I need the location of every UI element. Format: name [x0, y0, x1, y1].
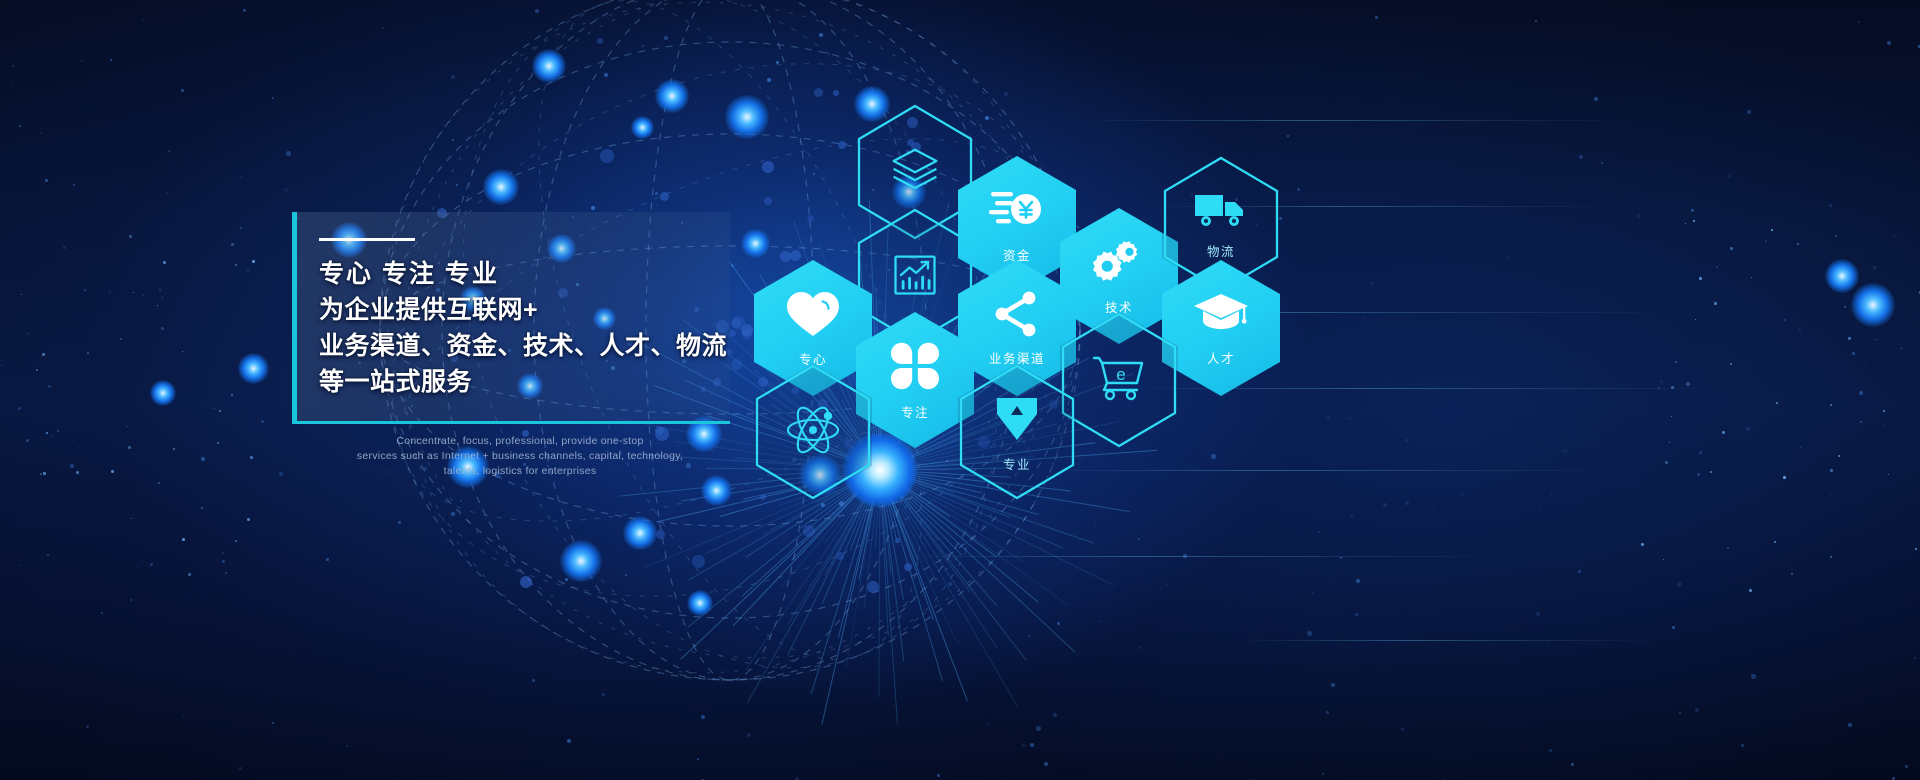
particle-dot — [1829, 204, 1832, 207]
particle-dot — [1679, 712, 1681, 714]
particle-dot — [520, 576, 532, 588]
particle-dot — [1375, 16, 1378, 19]
particle-dot — [600, 149, 614, 163]
edge-sparkle — [1693, 220, 1695, 222]
particle-dot — [1848, 723, 1852, 727]
particle-dot — [201, 457, 205, 461]
particle-dot — [1658, 387, 1660, 389]
edge-sparkle — [1784, 319, 1786, 321]
edge-sparkle — [76, 471, 79, 474]
particle-dot — [1699, 451, 1702, 454]
particle-dot — [747, 733, 751, 737]
particle-dot — [19, 565, 20, 566]
particle-dot — [10, 84, 12, 86]
particle-dot — [1637, 214, 1641, 218]
glow-node — [532, 49, 566, 83]
particle-dot — [1393, 86, 1394, 87]
particle-dot — [867, 581, 879, 593]
particle-dot — [591, 206, 595, 210]
edge-sparkle — [1710, 471, 1712, 473]
particle-dot — [261, 420, 264, 423]
particle-dot — [1217, 681, 1218, 682]
particle-dot — [1350, 515, 1353, 518]
edge-sparkle — [182, 351, 183, 352]
edge-sparkle — [1894, 235, 1895, 236]
particle-dot — [1639, 457, 1640, 458]
particle-dot — [1859, 391, 1863, 395]
edge-sparkle — [1671, 386, 1674, 389]
particle-dot — [1747, 110, 1751, 114]
particle-dot — [1370, 282, 1373, 285]
edge-sparkle — [1876, 339, 1877, 340]
edge-sparkle — [201, 507, 203, 509]
particle-dot — [1405, 501, 1409, 505]
edge-sparkle — [111, 470, 114, 473]
particle-dot — [81, 60, 83, 62]
particle-dot — [398, 521, 401, 524]
edge-sparkle — [1797, 243, 1799, 245]
hex-label: 人才 — [1207, 348, 1235, 367]
particle-dot — [1331, 683, 1335, 687]
edge-sparkle — [1675, 361, 1677, 363]
edge-sparkle — [217, 442, 219, 444]
edge-sparkle — [1901, 348, 1902, 349]
edge-sparkle — [1699, 277, 1702, 280]
particle-dot — [1691, 209, 1694, 212]
particle-dot — [150, 563, 153, 566]
edge-sparkle — [1830, 556, 1832, 558]
particle-dot — [1506, 256, 1509, 259]
light-streak — [1240, 640, 1660, 641]
particle-dot — [168, 150, 170, 152]
particle-dot — [1677, 582, 1682, 587]
edge-sparkle — [1, 365, 2, 366]
particle-dot — [1004, 92, 1008, 96]
caption-line-1: Concentrate, focus, professional, provid… — [292, 434, 748, 449]
particle-dot — [1361, 316, 1365, 320]
particle-dot — [1817, 106, 1818, 107]
glow-node — [1825, 259, 1859, 293]
edge-sparkle — [250, 456, 253, 459]
particle-dot — [48, 385, 51, 388]
particle-dot — [1800, 446, 1802, 448]
edge-sparkle — [1695, 319, 1696, 320]
particle-dot — [937, 774, 940, 777]
particle-dot — [1550, 492, 1553, 495]
edge-sparkle — [1791, 573, 1793, 575]
particle-dot — [225, 572, 227, 574]
edge-sparkle — [1663, 559, 1664, 560]
edge-sparkle — [1915, 548, 1917, 550]
edge-sparkle — [173, 448, 175, 450]
particle-dot — [1549, 749, 1552, 752]
edge-sparkle — [129, 235, 132, 238]
hexagon-cluster: 资金 技术 — [740, 104, 1300, 524]
edge-sparkle — [1685, 223, 1686, 224]
glow-node — [150, 380, 176, 406]
edge-sparkle — [162, 297, 163, 298]
particle-dot — [729, 330, 736, 337]
particle-dot — [1173, 65, 1175, 67]
particle-dot — [1579, 155, 1583, 159]
particle-dot — [655, 192, 658, 195]
edge-sparkle — [128, 446, 131, 449]
english-caption: Concentrate, focus, professional, provid… — [292, 434, 748, 479]
particle-dot — [1571, 763, 1574, 766]
particle-dot — [57, 430, 59, 432]
particle-dot — [1548, 641, 1550, 643]
particle-dot — [286, 151, 291, 156]
particle-dot — [1053, 713, 1057, 717]
edge-sparkle — [1714, 302, 1717, 305]
particle-dot — [1577, 437, 1579, 439]
svg-text:e: e — [1116, 365, 1125, 384]
particle-dot — [1851, 397, 1852, 398]
gears-icon — [1093, 237, 1145, 292]
edge-sparkle — [1884, 425, 1885, 426]
particle-dot — [1036, 726, 1041, 731]
hex-tile-atom[interactable] — [754, 364, 872, 500]
particle-dot — [247, 269, 249, 271]
particle-dot — [142, 294, 144, 296]
particle-dot — [45, 179, 48, 182]
particle-dot — [1594, 97, 1598, 101]
particle-dot — [1327, 416, 1330, 419]
particle-dot — [1728, 175, 1731, 178]
particle-dot — [19, 125, 21, 127]
edge-sparkle — [1665, 461, 1668, 464]
edge-sparkle — [1888, 474, 1889, 475]
edge-sparkle — [252, 260, 255, 263]
particle-dot — [833, 90, 839, 96]
edge-sparkle — [157, 305, 158, 306]
particle-dot — [239, 767, 242, 770]
particle-dot — [284, 188, 288, 192]
particle-dot — [1138, 646, 1141, 649]
particle-dot — [1780, 356, 1781, 357]
particle-dot — [181, 89, 184, 92]
particle-dot — [642, 45, 644, 47]
particle-dot — [1340, 557, 1342, 559]
particle-dot — [1634, 443, 1637, 446]
particle-dot — [819, 33, 823, 37]
particle-dot — [1322, 773, 1324, 775]
edge-sparkle — [1722, 431, 1725, 434]
particle-dot — [656, 530, 665, 539]
caption-line-3: talents, logistics for enterprises — [292, 464, 748, 479]
edge-sparkle — [159, 289, 161, 291]
particle-dot — [664, 36, 668, 40]
atom-icon — [785, 402, 841, 463]
particle-dot — [1325, 348, 1326, 349]
edge-sparkle — [1730, 247, 1733, 250]
edge-sparkle — [1838, 455, 1840, 457]
particle-dot — [1044, 762, 1048, 766]
edge-sparkle — [1844, 306, 1846, 308]
edge-sparkle — [161, 327, 164, 330]
hex-label: 专注 — [901, 402, 929, 421]
shopping-cart-e-icon: e — [1091, 354, 1147, 407]
particle-dot — [1166, 584, 1168, 586]
particle-dot — [895, 538, 900, 543]
caption-line-2: services such as Internet + business cha… — [292, 449, 748, 464]
particle-dot — [1672, 626, 1675, 629]
particle-dot — [346, 745, 348, 747]
panel-line-3: 业务渠道、资金、技术、人才、物流 — [319, 328, 721, 364]
particle-dot — [1873, 266, 1876, 269]
hex-label: 专业 — [1003, 454, 1031, 473]
particle-dot — [532, 679, 535, 682]
particle-dot — [272, 97, 274, 99]
particle-dot — [836, 552, 844, 560]
graduation-cap-icon — [1192, 290, 1250, 343]
hero-banner: 专心 专注 专业 为企业提供互联网+ 业务渠道、资金、技术、人才、物流 等一站式… — [0, 0, 1920, 780]
particle-dot — [1405, 439, 1408, 442]
particle-dot — [1312, 592, 1313, 593]
edge-sparkle — [1830, 494, 1831, 495]
particle-dot — [1746, 427, 1750, 431]
particle-dot — [1695, 708, 1699, 712]
particle-dot — [1578, 570, 1581, 573]
particle-dot — [1326, 711, 1329, 714]
edge-sparkle — [158, 482, 160, 484]
edge-sparkle — [240, 227, 242, 229]
particle-dot — [183, 716, 184, 717]
particle-dot — [1578, 306, 1580, 308]
particle-dot — [451, 75, 455, 79]
particle-dot — [1461, 493, 1464, 496]
particle-dot — [1028, 635, 1030, 637]
particle-dot — [130, 599, 132, 601]
edge-sparkle — [231, 243, 234, 246]
particle-dot — [803, 525, 815, 537]
headline-panel: 专心 专注 专业 为企业提供互联网+ 业务渠道、资金、技术、人才、物流 等一站式… — [292, 212, 730, 424]
share-nodes-icon — [991, 290, 1043, 343]
particle-dot — [101, 612, 103, 614]
edge-sparkle — [1671, 416, 1672, 417]
edge-sparkle — [1749, 589, 1752, 592]
particle-dot — [625, 574, 627, 576]
edge-sparkle — [1830, 404, 1832, 406]
edge-sparkle — [1830, 469, 1833, 472]
edge-sparkle — [131, 518, 132, 519]
particle-dot — [1383, 503, 1387, 507]
particle-dot — [70, 464, 74, 468]
particle-dot — [904, 563, 912, 571]
particle-dot — [1914, 657, 1916, 659]
hex-tile-ecart[interactable]: e — [1060, 312, 1178, 448]
edge-sparkle — [21, 294, 22, 295]
edge-sparkle — [247, 518, 250, 521]
edge-sparkle — [188, 573, 191, 576]
particle-dot — [12, 65, 14, 67]
edge-sparkle — [40, 473, 42, 475]
particle-dot — [567, 739, 571, 743]
particle-dot — [279, 472, 283, 476]
panel-headline: 专心 专注 专业 — [319, 256, 721, 292]
particle-dot — [1030, 743, 1034, 747]
particle-dot — [108, 291, 111, 294]
particle-dot — [1716, 266, 1718, 268]
particle-dot — [1094, 524, 1096, 526]
panel-rule — [319, 238, 415, 241]
particle-dot — [1183, 554, 1187, 558]
particle-dot — [1538, 506, 1541, 509]
edge-sparkle — [51, 435, 52, 436]
hex-tile-zhuanye[interactable]: 专业 — [958, 364, 1076, 500]
particle-dot — [1022, 744, 1025, 747]
truck-icon — [1193, 189, 1249, 236]
particle-dot — [1239, 704, 1241, 706]
particle-dot — [1695, 627, 1696, 628]
clover-icon — [889, 340, 941, 397]
particle-dot — [1138, 538, 1140, 540]
edge-sparkle — [1774, 541, 1776, 543]
chart-growth-icon — [889, 248, 941, 305]
edge-sparkle — [127, 426, 128, 427]
particle-dot — [1536, 612, 1540, 616]
edge-sparkle — [1883, 410, 1885, 412]
particle-dot — [70, 202, 71, 203]
edge-sparkle — [84, 289, 86, 291]
particle-dot — [1401, 728, 1404, 731]
glow-node — [687, 590, 713, 616]
particle-dot — [1660, 380, 1663, 383]
particle-dot — [222, 552, 224, 554]
edge-sparkle — [1835, 235, 1837, 237]
edge-sparkle — [163, 261, 166, 264]
particle-dot — [40, 132, 42, 134]
particle-dot — [1887, 41, 1891, 45]
edge-sparkle — [1848, 337, 1851, 340]
edge-sparkle — [1669, 442, 1670, 443]
particle-dot — [166, 192, 168, 194]
particle-dot — [1432, 508, 1434, 510]
particle-dot — [272, 722, 274, 724]
edge-sparkle — [87, 352, 89, 354]
particle-dot — [290, 651, 292, 653]
edge-sparkle — [182, 538, 185, 541]
edge-sparkle — [219, 410, 221, 412]
layers-icon — [888, 143, 942, 202]
edge-sparkle — [133, 292, 134, 293]
edge-sparkle — [235, 540, 237, 542]
diamond-icon — [993, 392, 1041, 449]
particle-dot — [1798, 328, 1801, 331]
hex-label: 业务渠道 — [989, 348, 1045, 367]
particle-dot — [697, 758, 699, 760]
particle-dot — [239, 175, 242, 178]
glow-node — [655, 79, 689, 113]
particle-dot — [1905, 765, 1908, 768]
edge-sparkle — [1733, 392, 1734, 393]
particle-dot — [18, 407, 21, 410]
particle-dot — [535, 9, 539, 13]
particle-dot — [1385, 380, 1386, 381]
particle-dot — [142, 19, 144, 21]
edge-sparkle — [47, 554, 49, 556]
edge-sparkle — [36, 369, 38, 371]
edge-sparkle — [1776, 402, 1778, 404]
hex-tile-zhuanzhu[interactable]: 专注 — [856, 312, 974, 448]
hex-label: 物流 — [1207, 241, 1235, 260]
edge-sparkle — [26, 439, 29, 442]
light-streak — [900, 556, 1520, 557]
edge-sparkle — [1783, 476, 1786, 479]
edge-sparkle — [235, 264, 237, 266]
particle-dot — [222, 560, 225, 563]
edge-sparkle — [142, 560, 143, 561]
particle-dot — [948, 582, 952, 586]
edge-sparkle — [1730, 363, 1732, 365]
edge-sparkle — [214, 408, 215, 409]
edge-sparkle — [1860, 421, 1862, 423]
glow-node — [560, 540, 602, 582]
particle-dot — [1765, 240, 1767, 242]
particle-dot — [767, 78, 771, 82]
particle-dot — [452, 139, 454, 141]
particle-dot — [1318, 531, 1320, 533]
edge-sparkle — [43, 472, 46, 475]
particle-dot — [110, 59, 112, 61]
particle-dot — [1563, 449, 1567, 453]
particle-dot — [1741, 744, 1744, 747]
particle-dot — [73, 184, 75, 186]
particle-dot — [1660, 211, 1661, 212]
particle-dot — [1594, 311, 1597, 314]
hex-tile-rencai[interactable]: 人才 — [1162, 260, 1280, 396]
particle-dot — [1554, 111, 1555, 112]
particle-dot — [1852, 352, 1855, 355]
particle-dot — [1535, 20, 1537, 22]
particle-dot — [1751, 674, 1756, 679]
edge-sparkle — [120, 338, 122, 340]
particle-dot — [243, 9, 246, 12]
edge-sparkle — [1727, 547, 1729, 549]
edge-sparkle — [42, 353, 45, 356]
edge-sparkle — [1751, 277, 1752, 278]
panel-line-2: 为企业提供互联网+ — [319, 292, 721, 328]
particle-dot — [1517, 318, 1519, 320]
edge-sparkle — [46, 432, 48, 434]
particle-dot — [1317, 447, 1318, 448]
particle-dot — [1697, 473, 1700, 476]
heart-icon — [785, 289, 841, 344]
edge-sparkle — [73, 441, 74, 442]
particle-dot — [1623, 281, 1625, 283]
particle-dot — [1356, 579, 1360, 583]
edge-sparkle — [28, 333, 29, 334]
glow-node — [1851, 283, 1895, 327]
particle-dot — [1348, 417, 1351, 420]
particle-dot — [63, 246, 66, 249]
glow-node — [623, 516, 657, 550]
panel-line-4: 等一站式服务 — [319, 364, 721, 400]
particle-dot — [86, 725, 89, 728]
edge-sparkle — [1771, 229, 1773, 231]
edge-sparkle — [1641, 543, 1644, 546]
particle-dot — [1686, 382, 1690, 386]
particle-dot — [1858, 21, 1860, 23]
edge-sparkle — [1865, 365, 1866, 366]
particle-dot — [1355, 613, 1358, 616]
particle-dot — [1307, 631, 1312, 636]
particle-dot — [326, 558, 329, 561]
particle-dot — [597, 38, 603, 44]
yuan-money-icon — [989, 185, 1045, 240]
particle-dot — [1601, 162, 1603, 164]
glow-node — [238, 353, 269, 384]
